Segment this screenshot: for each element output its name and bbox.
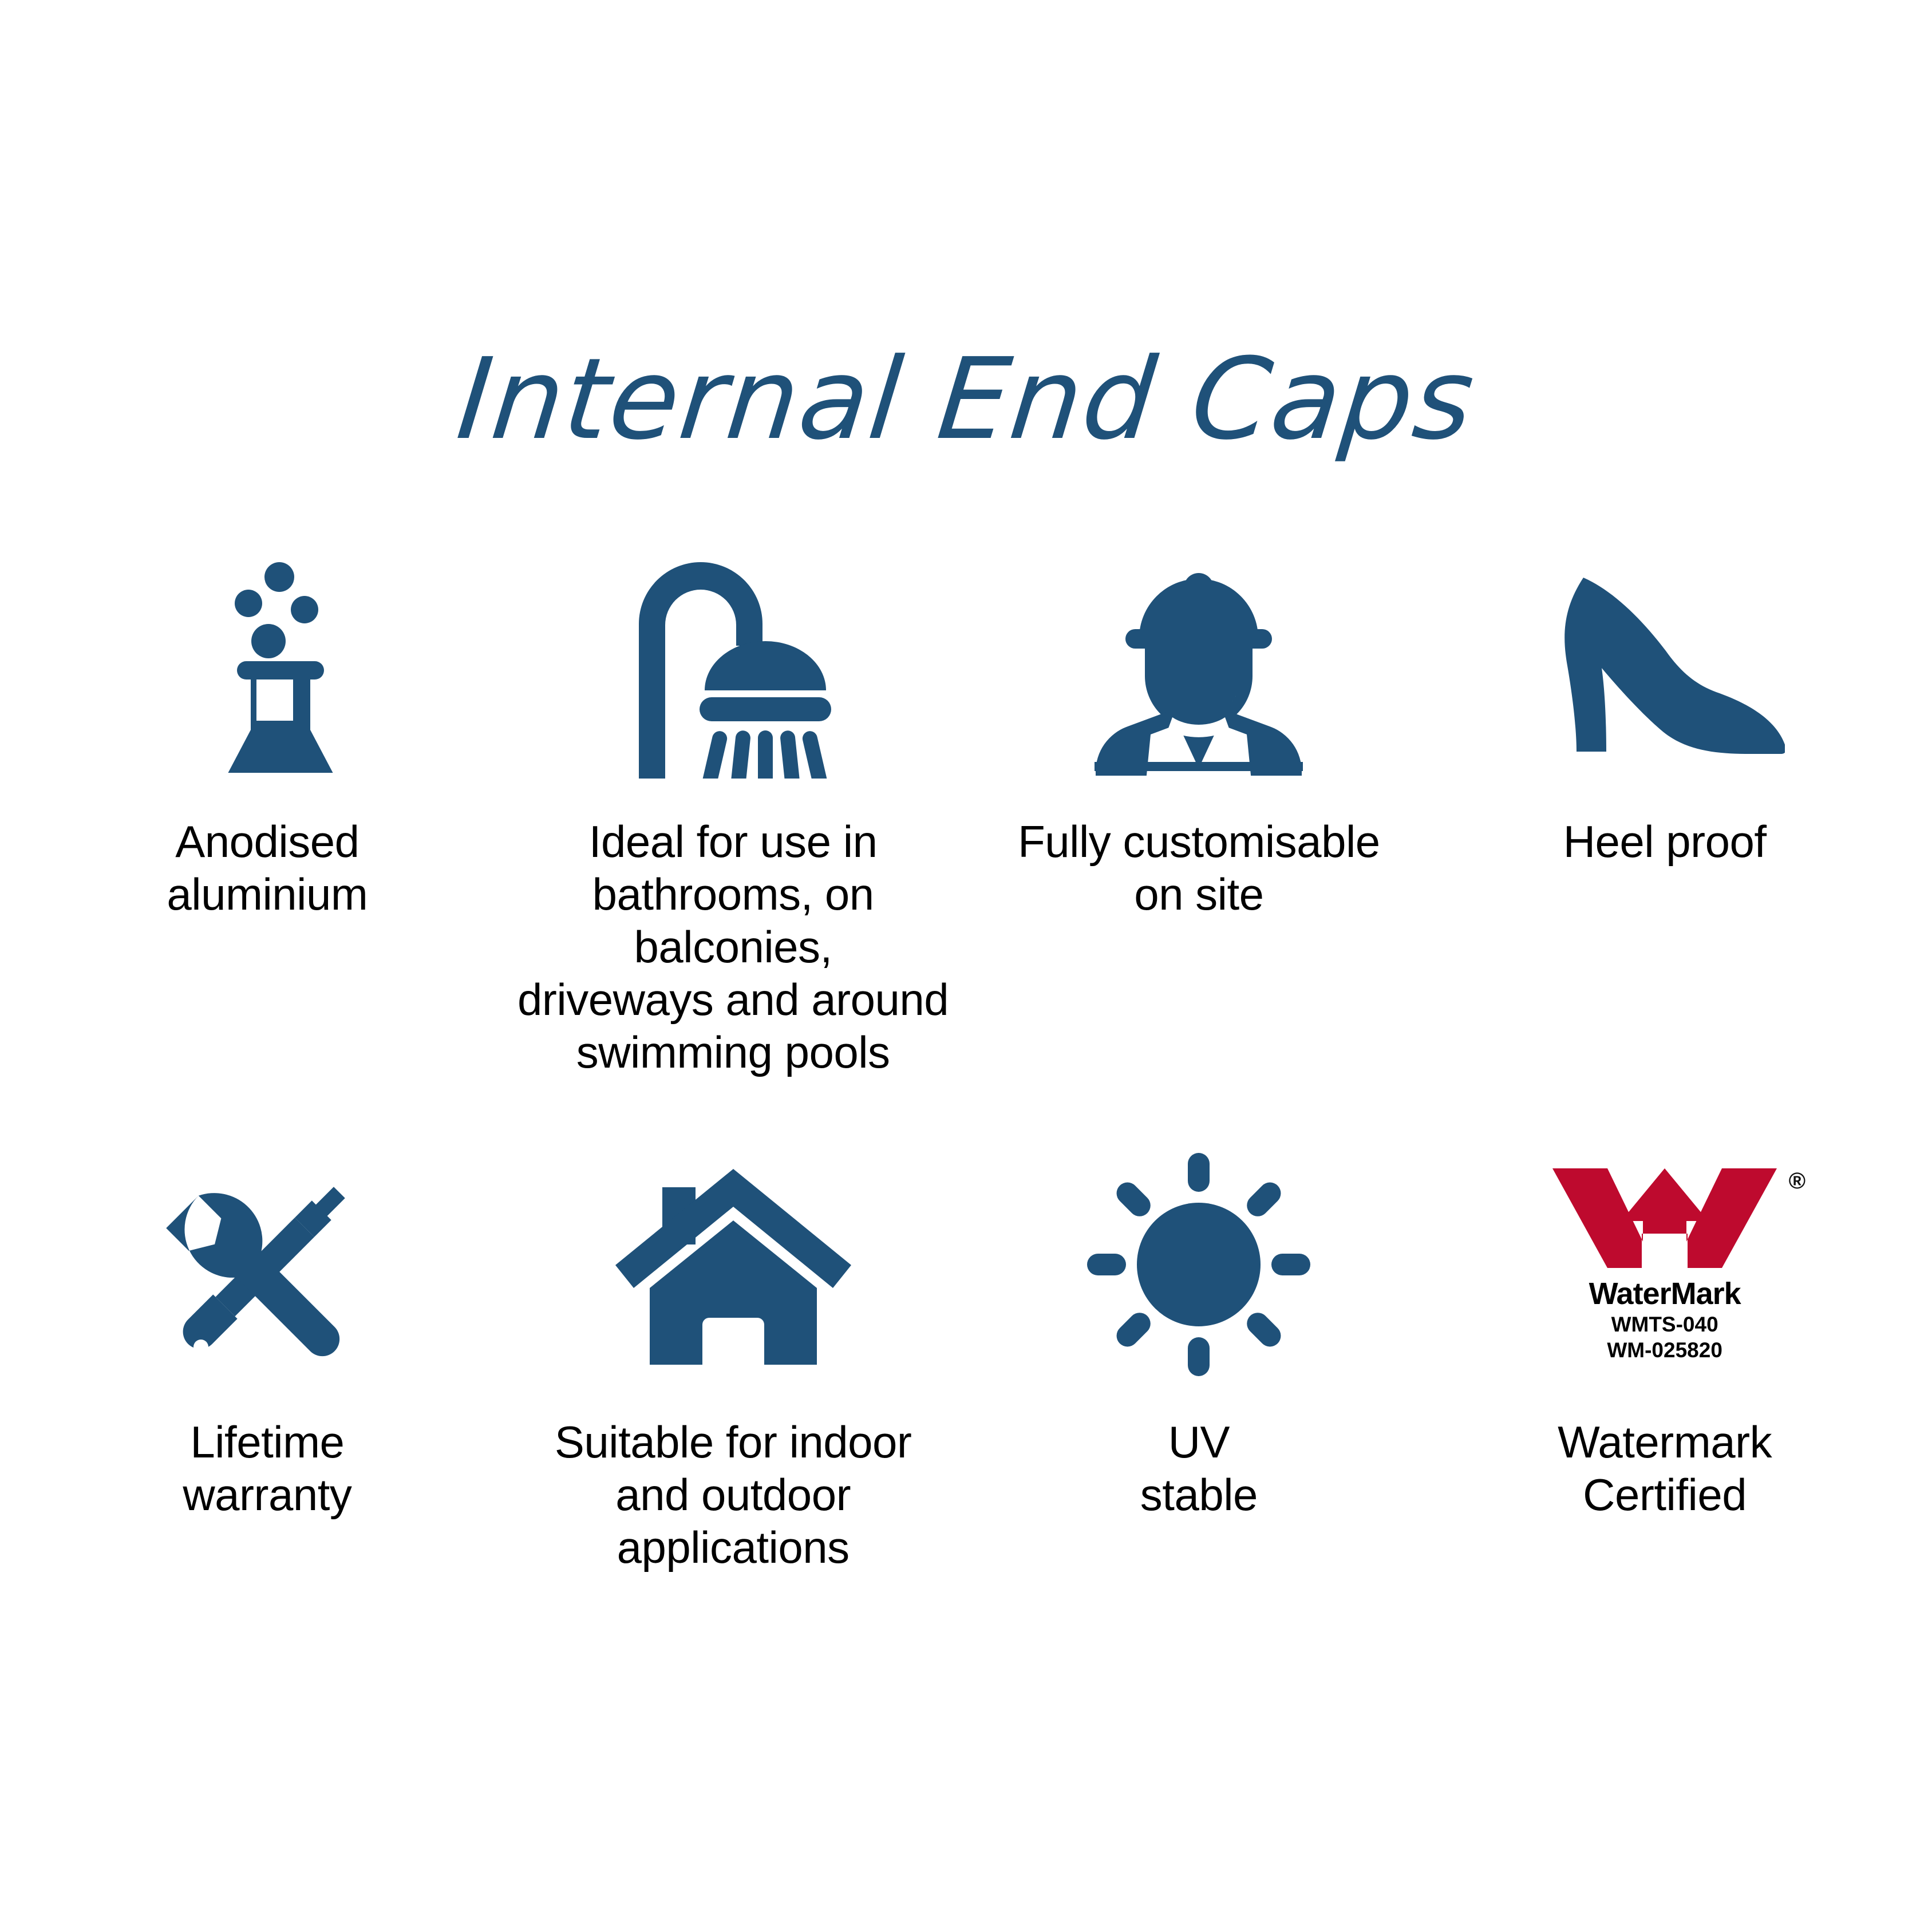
feature-lifetime-warranty: Lifetime warranty — [34, 1139, 500, 1574]
construction-worker-icon — [1084, 552, 1313, 776]
flask-icon-box — [173, 538, 362, 790]
feature-uv-stable: UV stable — [966, 1139, 1432, 1574]
feature-row-1: Anodised aluminium — [34, 538, 1898, 1078]
caption-line: Fully customisable — [1018, 815, 1380, 868]
feature-caption-fully-customisable: Fully customisable on site — [1002, 815, 1396, 920]
feature-row-2: Lifetime warranty — [34, 1139, 1898, 1574]
feature-indoor-outdoor: Suitable for indoor and outdoor applicat… — [500, 1139, 966, 1574]
watermark-w-glyph — [1550, 1166, 1779, 1270]
watermark-licence-code: WM-025820 — [1607, 1337, 1722, 1363]
feature-caption-uv-stable: UV stable — [1106, 1416, 1292, 1521]
caption-line: Watermark — [1558, 1416, 1772, 1468]
sun-icon — [1087, 1153, 1310, 1376]
feature-fully-customisable: Fully customisable on site — [966, 538, 1432, 1078]
tools-icon-box — [153, 1139, 382, 1390]
high-heel-shoe-icon — [1544, 570, 1785, 758]
watermark-logo-icon: ® WaterMark WMTS-040 WM-025820 — [1550, 1166, 1779, 1363]
feature-caption-heel-proof: Heel proof — [1547, 815, 1783, 868]
watermark-standard-code: WMTS-040 — [1611, 1311, 1718, 1337]
feature-caption-anodised-aluminium: Anodised aluminium — [132, 815, 402, 920]
caption-line: UV — [1140, 1416, 1258, 1468]
caption-line: warranty — [183, 1468, 351, 1521]
caption-line: Heel proof — [1563, 815, 1767, 868]
watermark-logo-icon-box: ® WaterMark WMTS-040 WM-025820 — [1550, 1139, 1779, 1390]
feature-grid: Anodised aluminium — [34, 538, 1898, 1574]
page-title: Internal End Caps — [452, 343, 1479, 456]
page-title-wrapper: Internal End Caps — [0, 343, 1932, 456]
caption-line: and outdoor — [555, 1468, 912, 1521]
feature-caption-lifetime-warranty: Lifetime warranty — [148, 1416, 386, 1521]
shower-icon — [616, 550, 851, 779]
caption-line: on site — [1018, 868, 1380, 920]
feature-heel-proof: Heel proof — [1432, 538, 1898, 1078]
caption-line: Suitable for indoor — [555, 1416, 912, 1468]
caption-line: Anodised — [167, 815, 368, 868]
feature-caption-ideal-for-wet-areas: Ideal for use in bathrooms, on balconies… — [500, 815, 966, 1078]
caption-line: driveways and around — [516, 973, 950, 1026]
caption-line: Certified — [1558, 1468, 1772, 1521]
caption-line: applications — [555, 1521, 912, 1574]
infographic-page: Internal End Caps — [0, 0, 1932, 1932]
caption-line: stable — [1140, 1468, 1258, 1521]
house-icon — [613, 1159, 854, 1370]
caption-line: Ideal for use in — [516, 815, 950, 868]
construction-worker-icon-box — [1084, 538, 1313, 790]
flask-icon — [173, 555, 362, 773]
feature-ideal-for-wet-areas: Ideal for use in bathrooms, on balconies… — [500, 538, 966, 1078]
caption-line: aluminium — [167, 868, 368, 920]
house-icon-box — [613, 1139, 854, 1390]
feature-watermark-certified: ® WaterMark WMTS-040 WM-025820 Watermark… — [1432, 1139, 1898, 1574]
caption-line: swimming pools — [516, 1026, 950, 1078]
feature-caption-indoor-outdoor: Suitable for indoor and outdoor applicat… — [539, 1416, 928, 1574]
registered-trademark-icon: ® — [1789, 1168, 1805, 1194]
feature-caption-watermark-certified: Watermark Certified — [1523, 1416, 1806, 1521]
shower-icon-box — [616, 538, 851, 790]
feature-anodised-aluminium: Anodised aluminium — [34, 538, 500, 1078]
watermark-brand-text: WaterMark — [1589, 1276, 1741, 1311]
caption-line: Lifetime — [183, 1416, 351, 1468]
watermark-w-mark: ® — [1550, 1166, 1779, 1270]
sun-icon-box — [1087, 1139, 1310, 1390]
high-heel-shoe-icon-box — [1544, 538, 1785, 790]
tools-icon — [153, 1156, 382, 1373]
caption-line: bathrooms, on balconies, — [516, 868, 950, 973]
